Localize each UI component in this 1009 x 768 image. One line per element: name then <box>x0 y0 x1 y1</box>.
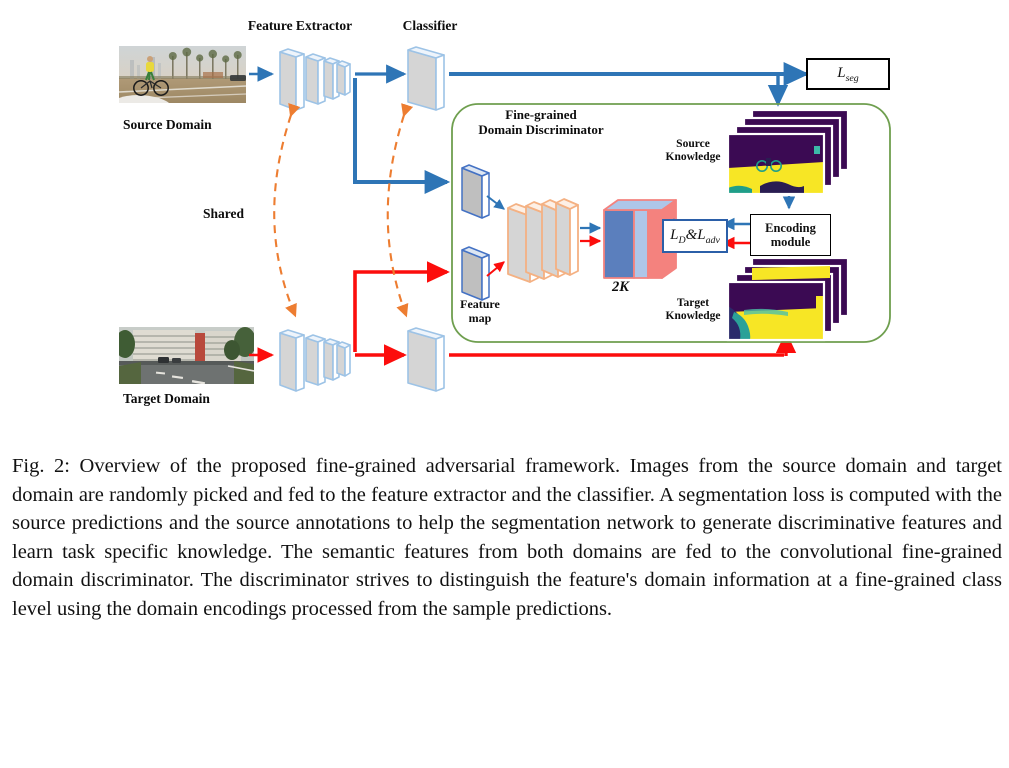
loss-disc-adv-label: LD&Ladv <box>670 227 720 246</box>
feature-map-line2: map <box>469 311 492 325</box>
source-domain-label: Source Domain <box>123 117 212 132</box>
feature-map-label: Featuremap <box>452 298 508 325</box>
loss-seg-label: Lseg <box>837 65 859 84</box>
discriminator-title-line1: Fine-grained <box>505 107 577 122</box>
source-domain-image <box>119 46 246 103</box>
shared-dashed-arrows <box>274 115 406 315</box>
feature-extractor-bottom <box>280 330 350 391</box>
feature-map-target <box>462 247 489 300</box>
classifier-label: Classifier <box>390 18 470 33</box>
source-knowledge-label: SourceKnowledge <box>658 138 728 164</box>
feature-extractor-top <box>280 49 350 110</box>
shared-label: Shared <box>203 206 244 221</box>
source-knowledge-stack <box>728 110 848 194</box>
figure-diagram: Lseg LD&Ladv Encoding module Feature Ext… <box>0 0 1009 440</box>
loss-disc-adv-box: LD&Ladv <box>662 219 728 253</box>
discriminator-conv-stack <box>508 199 578 282</box>
encoding-module-line1: Encoding <box>765 221 816 235</box>
target-knowledge-label: TargetKnowledge <box>658 297 728 323</box>
source-knowledge-line2: Knowledge <box>666 151 721 163</box>
two-k-label: 2K <box>612 279 629 296</box>
target-domain-image <box>115 327 256 385</box>
target-knowledge-stack <box>728 258 848 340</box>
encoding-module-line2: module <box>771 235 811 249</box>
target-knowledge-line1: Target <box>677 297 709 309</box>
target-knowledge-line2: Knowledge <box>666 310 721 322</box>
source-knowledge-line1: Source <box>676 138 710 150</box>
loss-seg-box: Lseg <box>806 58 890 90</box>
feature-map-line1: Feature <box>460 297 500 311</box>
figure-caption: Fig. 2: Overview of the proposed fine-gr… <box>12 452 1002 624</box>
discriminator-title-line2: Domain Discriminator <box>478 122 603 137</box>
classifier-top <box>408 47 444 110</box>
feature-extractor-label: Feature Extractor <box>238 18 362 33</box>
discriminator-title: Fine-grainedDomain Discriminator <box>462 108 620 138</box>
encoding-module-box: Encoding module <box>750 214 831 256</box>
target-domain-label: Target Domain <box>123 391 210 406</box>
feature-map-source <box>462 165 489 218</box>
classifier-bottom <box>408 328 444 391</box>
